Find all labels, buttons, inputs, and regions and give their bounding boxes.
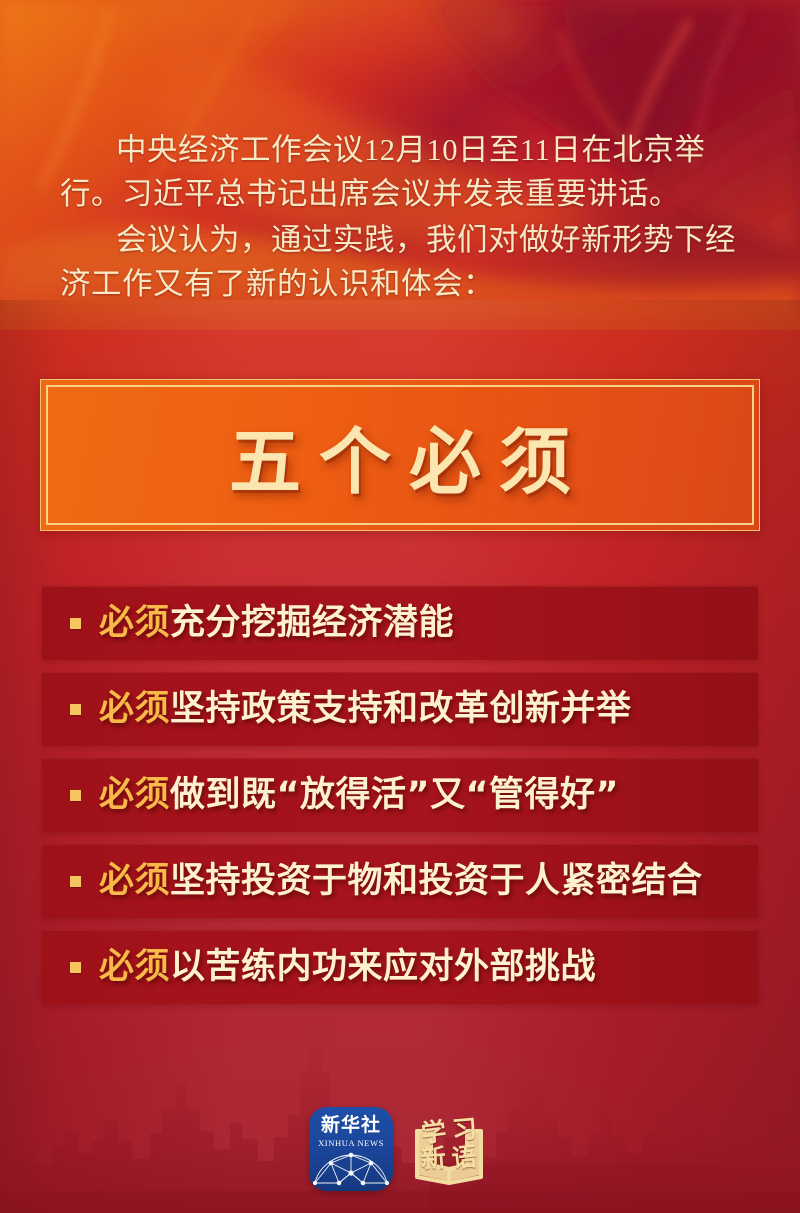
list-item[interactable]: 必须做到既“放得活”又“管得好” — [42, 758, 758, 832]
list-item[interactable]: 必须以苦练内功来应对外部挑战 — [42, 930, 758, 1004]
bullet-square-icon — [70, 790, 81, 801]
bullet-square-icon — [70, 962, 81, 973]
list-item-keyword: 必须 — [99, 603, 170, 643]
list-item-text: 必须充分挖掘经济潜能 — [99, 606, 454, 641]
list-item-keyword: 必须 — [99, 689, 170, 729]
list-item[interactable]: 必须坚持投资于物和投资于人紧密结合 — [42, 844, 758, 918]
xuexi-xinyu-logo[interactable]: 学 习 新 语 — [407, 1107, 491, 1191]
list-item-rest: 坚持投资于物和投资于人紧密结合 — [170, 861, 703, 901]
poster-root: 中央经济工作会议12月10日至11日在北京举行。习近平总书记出席会议并发表重要讲… — [0, 0, 800, 1213]
list-item-text: 必须坚持投资于物和投资于人紧密结合 — [99, 864, 703, 899]
list-item-text: 必须以苦练内功来应对外部挑战 — [99, 950, 596, 985]
logo-row: 新华社 XINHUA NEWS — [0, 1107, 800, 1191]
bullet-square-icon — [70, 704, 81, 715]
intro-paragraph-1: 中央经济工作会议12月10日至11日在北京举行。习近平总书记出席会议并发表重要讲… — [60, 128, 750, 216]
requirements-list: 必须充分挖掘经济潜能 必须坚持政策支持和改革创新并举 必须做到既“放得活”又“管… — [42, 586, 758, 1004]
xuexi-char-2: 习 — [451, 1116, 478, 1143]
bullet-square-icon — [70, 876, 81, 887]
list-item-keyword: 必须 — [99, 947, 170, 987]
intro-paragraph-2: 会议认为，通过实践，我们对做好新形势下经济工作又有了新的认识和体会： — [60, 218, 750, 306]
list-item-rest: 以苦练内功来应对外部挑战 — [170, 947, 596, 987]
xuexi-char-1: 学 — [420, 1118, 448, 1146]
xuexi-logo-characters: 学 习 新 语 — [407, 1107, 491, 1191]
intro-paragraphs: 中央经济工作会议12月10日至11日在北京举行。习近平总书记出席会议并发表重要讲… — [60, 128, 750, 306]
network-globe-icon — [309, 1149, 393, 1189]
list-item[interactable]: 必须坚持政策支持和改革创新并举 — [42, 672, 758, 746]
xinhua-logo-en-text: XINHUA NEWS — [318, 1139, 384, 1148]
xuexi-char-4: 语 — [450, 1143, 477, 1170]
xinhua-news-logo[interactable]: 新华社 XINHUA NEWS — [309, 1107, 393, 1191]
list-item-text: 必须做到既“放得活”又“管得好” — [99, 778, 619, 813]
page-title: 五个必须 — [211, 403, 589, 508]
list-item-text: 必须坚持政策支持和改革创新并举 — [99, 692, 632, 727]
list-item-keyword: 必须 — [99, 775, 170, 815]
list-item-rest: 做到既“放得活”又“管得好” — [170, 775, 619, 815]
headline-inner-border: 五个必须 — [46, 385, 754, 525]
xinhua-logo-cn-text: 新华社 — [321, 1116, 381, 1135]
list-item-rest: 坚持政策支持和改革创新并举 — [170, 689, 632, 729]
list-item-keyword: 必须 — [99, 861, 170, 901]
xuexi-char-3: 新 — [420, 1145, 447, 1172]
list-item-rest: 充分挖掘经济潜能 — [170, 603, 454, 643]
bullet-square-icon — [70, 618, 81, 629]
list-item[interactable]: 必须充分挖掘经济潜能 — [42, 586, 758, 660]
headline-box: 五个必须 — [40, 379, 760, 531]
